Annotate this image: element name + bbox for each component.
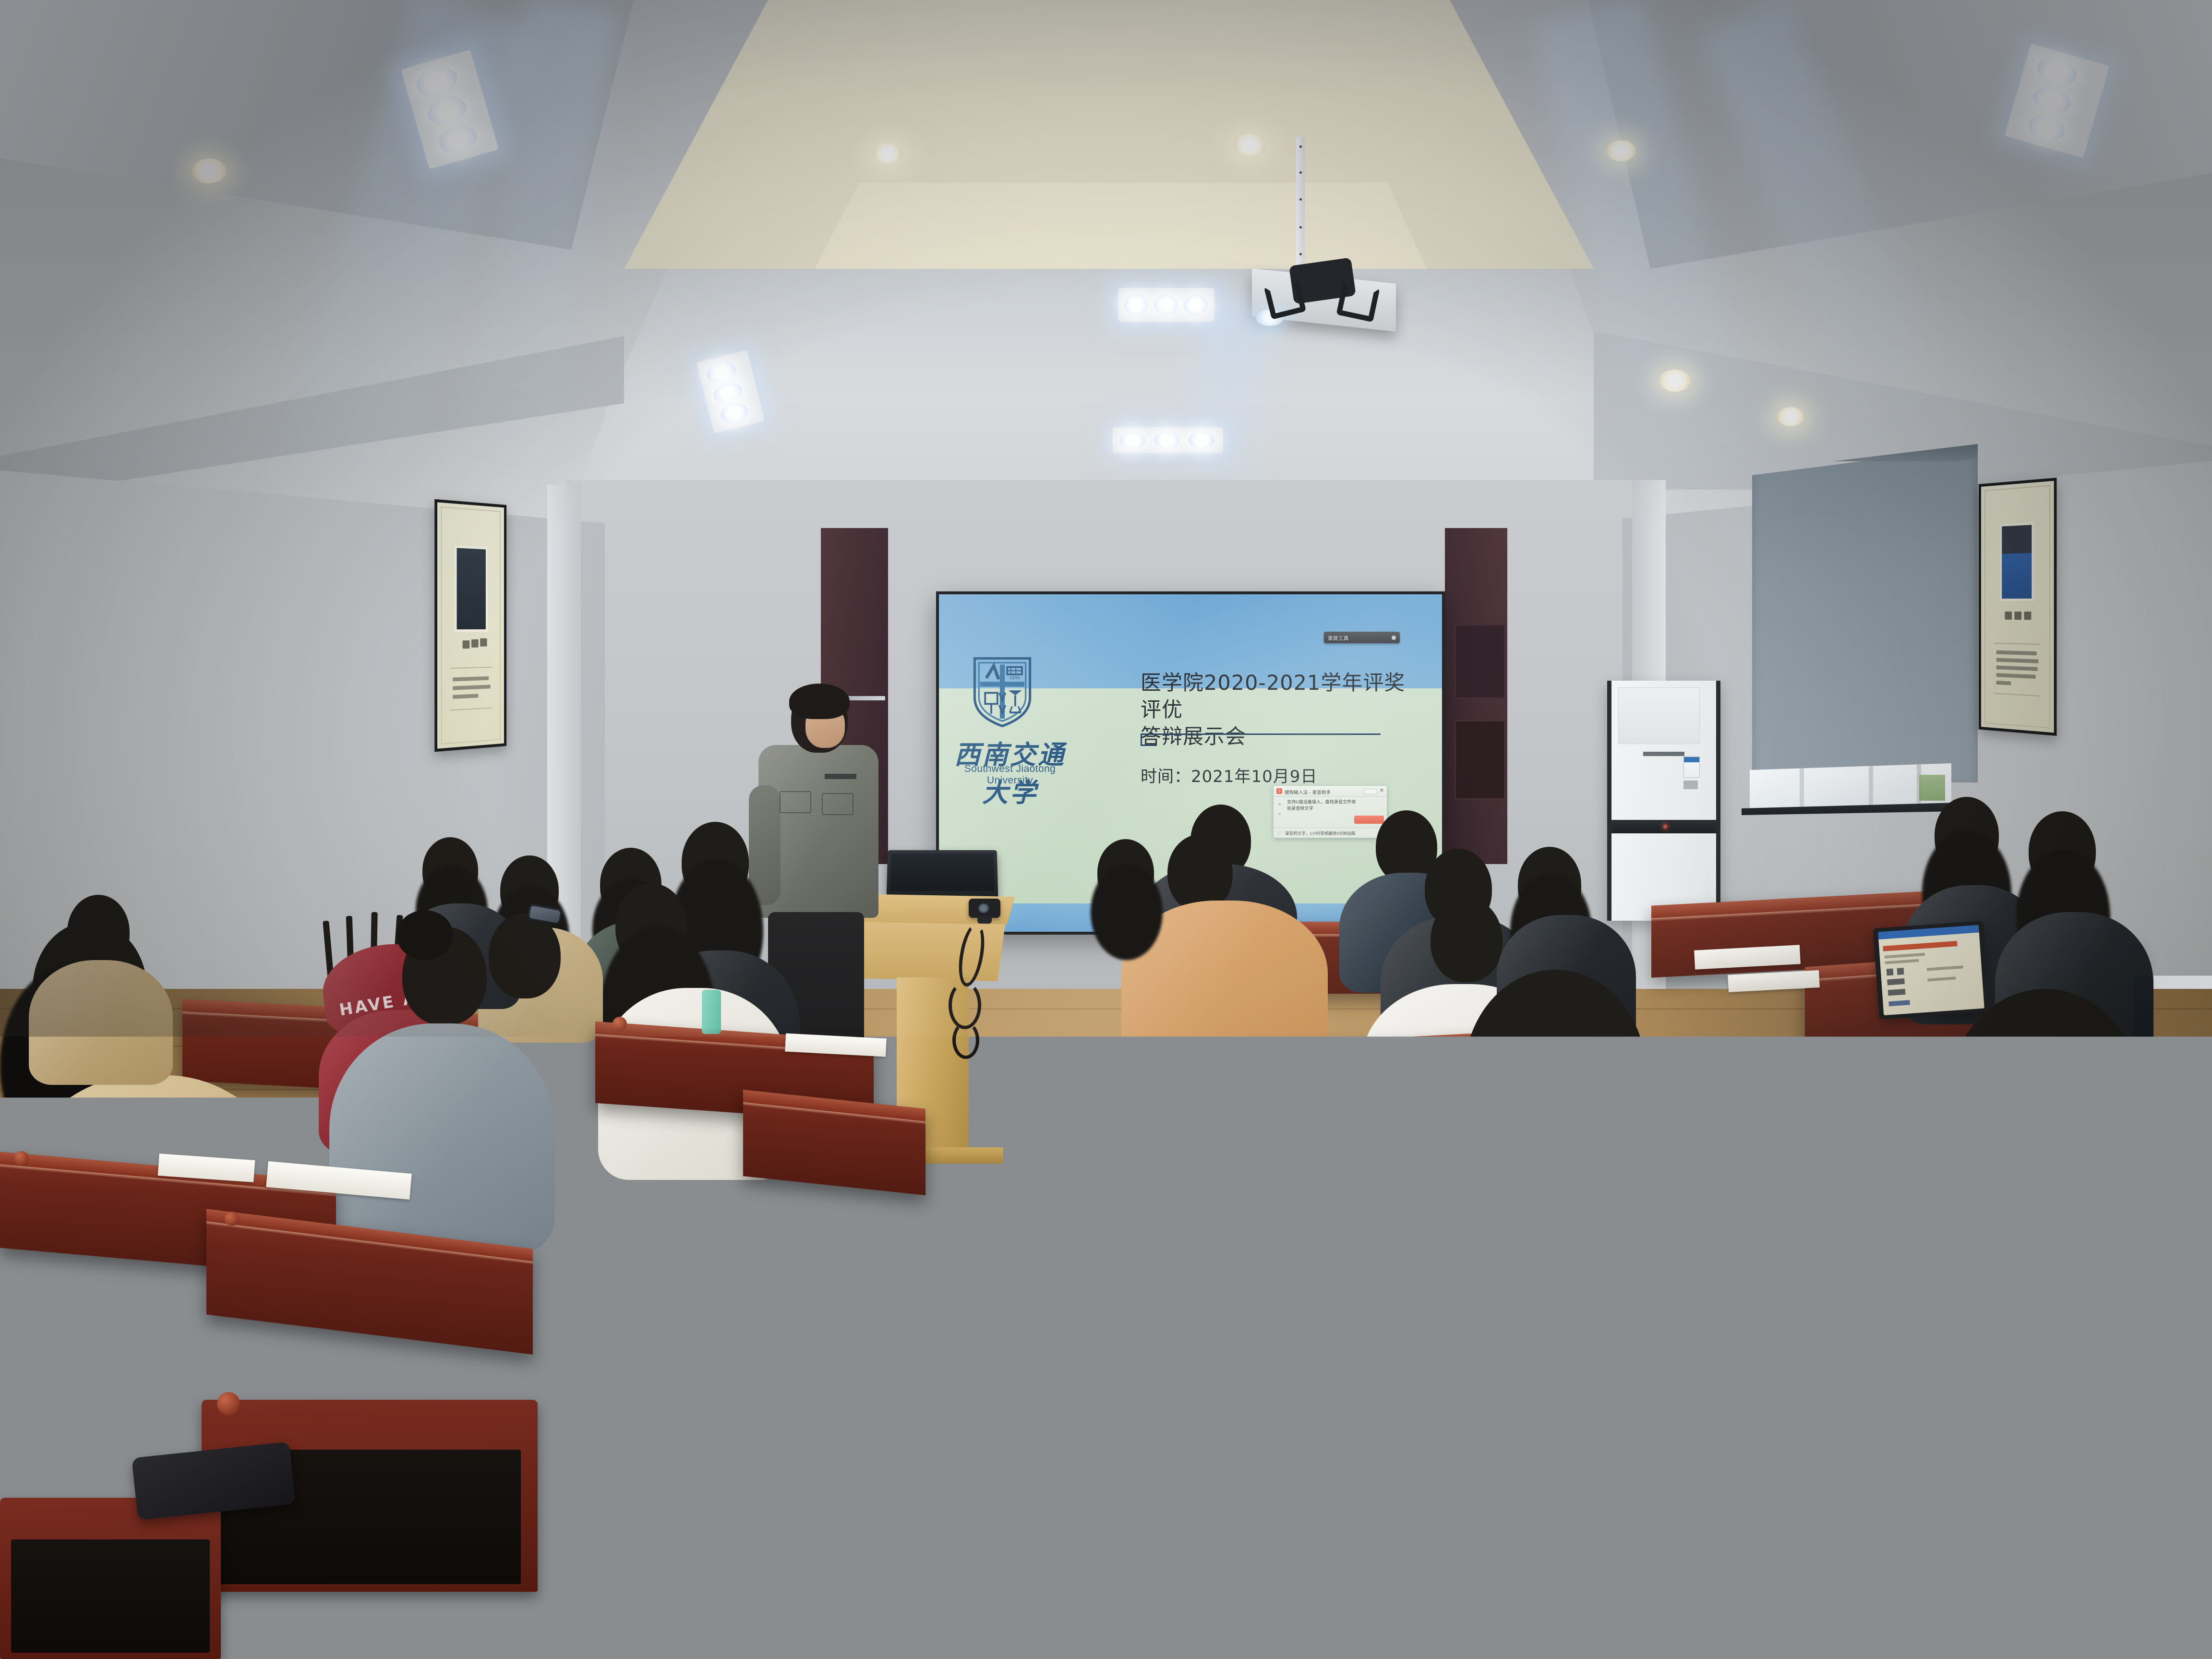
audience-body-grey <box>329 1023 555 1254</box>
glasses-icon <box>1932 1050 1967 1082</box>
presenter-hair <box>789 684 850 719</box>
webcam-stand <box>977 916 992 924</box>
ime-recorder-popup[interactable]: S 搜狗输入法 - 录音助手 ✕ ❝ ⌖ 支持U盘设备接入，查找录音文件体 验录… <box>1273 785 1387 838</box>
ceiling-downlight <box>1606 140 1636 161</box>
ime-popup-footer: ⓘ 录音转文字，1小时音频最快5分钟出稿 <box>1274 828 1387 838</box>
desk-knob <box>225 1212 239 1226</box>
desk-right-mid <box>1162 1032 1507 1141</box>
ac-energy-label <box>1683 757 1700 778</box>
ime-popup-title: 搜狗输入法 - 录音助手 <box>1285 788 1331 795</box>
ceiling-downlight <box>1659 370 1691 392</box>
plaque-name-char <box>2005 612 2012 620</box>
ime-footer-text: 录音转文字，1小时音频最快5分钟出稿 <box>1285 830 1355 836</box>
window-mullion <box>1800 765 1804 809</box>
ac-brand-logo <box>1643 752 1684 756</box>
roller-blind[interactable] <box>1752 446 1978 782</box>
audience-hair-bottom-right <box>1627 1354 2011 1659</box>
slide-date: 时间：2021年10月9日 <box>1141 763 1317 787</box>
ac-vent-panel <box>1618 687 1700 744</box>
audience-tablet[interactable] <box>1873 921 1990 1020</box>
shirt-pocket-icon <box>822 793 854 815</box>
audience-head <box>1431 898 1503 982</box>
plaque-caption-line <box>1996 681 2011 685</box>
wall-recess-lower <box>1455 720 1505 800</box>
audience-head-edge-right <box>2079 1152 2212 1310</box>
ime-body-line2: 验录音转文字 <box>1287 806 1379 813</box>
ceiling-downlight <box>1777 407 1804 426</box>
slide-title-underline <box>1141 733 1381 735</box>
podium-cable <box>952 1022 979 1059</box>
ceiling-downlight <box>192 158 227 183</box>
plaque-portrait <box>455 545 488 632</box>
window-mullion <box>1869 763 1873 807</box>
audience-body <box>29 960 173 1085</box>
plaque-name-char <box>480 638 487 647</box>
audience-head-front-right <box>1464 970 1647 1181</box>
record-dot-icon[interactable] <box>1392 636 1396 640</box>
ceiling-downlight <box>1234 133 1265 156</box>
quote-icon: ❝ <box>1278 803 1281 808</box>
plaque-inner-border <box>1984 485 2050 728</box>
ac-sticker <box>1683 781 1698 789</box>
ceiling-step-middle <box>605 269 1623 413</box>
audience-long-hair <box>1091 864 1163 960</box>
tablet-toolbar-accent <box>1883 941 1958 951</box>
minimize-icon[interactable] <box>1364 789 1377 794</box>
ceiling-downlight <box>873 143 902 164</box>
tablet-screen <box>1878 925 1984 1015</box>
presenter-badge <box>825 774 856 779</box>
plaque-name-char <box>463 640 470 649</box>
water-bottle <box>702 990 721 1034</box>
university-crest-icon: 1896 <box>972 656 1033 729</box>
audience-hair-bun <box>397 910 453 960</box>
audience-head <box>489 913 561 998</box>
ceiling-light-fixture-triple <box>1118 288 1214 322</box>
slide-title: 医学院2020-2021学年评奖评优 答辩展示会 <box>1141 670 1409 751</box>
air-conditioner-unit <box>1607 681 1720 921</box>
plaque-name-char <box>2024 612 2032 620</box>
try-now-button[interactable] <box>1354 816 1384 824</box>
shirt-pocket-icon <box>780 791 811 813</box>
desk-knob <box>14 1151 29 1166</box>
capture-toolbar-label: 录屏工具 <box>1328 634 1349 641</box>
lecture-hall-photo: 1896 西南交通大学 Southwest Jiaotong Universit… <box>0 0 2212 1659</box>
wall-plaque-left <box>434 499 506 752</box>
chair-knob <box>217 1392 240 1415</box>
ime-popup-header: S 搜狗输入法 - 录音助手 ✕ <box>1274 786 1387 797</box>
plaque-portrait <box>2000 522 2034 601</box>
wall-recess-upper <box>1455 624 1505 699</box>
wall-plaque-right <box>1979 478 2057 736</box>
sogou-logo-icon: S <box>1276 788 1282 794</box>
mic-icon: ⌖ <box>1278 812 1281 817</box>
ime-popup-body: 支持U盘设备接入，查找录音文件体 验录音转文字 <box>1287 799 1379 812</box>
thermos-flask <box>1695 1166 1743 1267</box>
ime-body-line1: 支持U盘设备接入，查找录音文件体 <box>1287 799 1379 806</box>
svg-text:1896: 1896 <box>1009 676 1020 681</box>
plaque-name-char <box>471 639 479 648</box>
webcam <box>969 899 1000 918</box>
close-icon[interactable]: ✕ <box>1380 788 1384 793</box>
desk-knob <box>613 1017 627 1031</box>
audience-head <box>67 895 130 969</box>
screen-capture-toolbar[interactable]: 录屏工具 <box>1324 632 1400 643</box>
university-name-en: Southwest Jiaotong University <box>950 763 1070 786</box>
audience-body <box>2040 1296 2212 1527</box>
info-icon: ⓘ <box>1277 830 1281 836</box>
slide-title-line1: 医学院2020-2021学年评奖评优 <box>1141 670 1409 724</box>
laptop-screen <box>890 854 995 891</box>
chair-near-left-2[interactable] <box>0 1498 221 1659</box>
plaque-name-char <box>2014 612 2021 620</box>
ceiling-light-fixture-triple <box>1113 427 1223 453</box>
chair-left-mid[interactable] <box>778 1167 1008 1331</box>
window-foliage-view <box>1919 775 1945 801</box>
presenter-laptop[interactable] <box>887 850 998 898</box>
ac-power-led-icon <box>1663 825 1667 829</box>
audience-head <box>1167 834 1233 911</box>
thermos-lid <box>1695 1159 1744 1178</box>
slide-title-line2: 答辩展示会 <box>1141 724 1409 751</box>
